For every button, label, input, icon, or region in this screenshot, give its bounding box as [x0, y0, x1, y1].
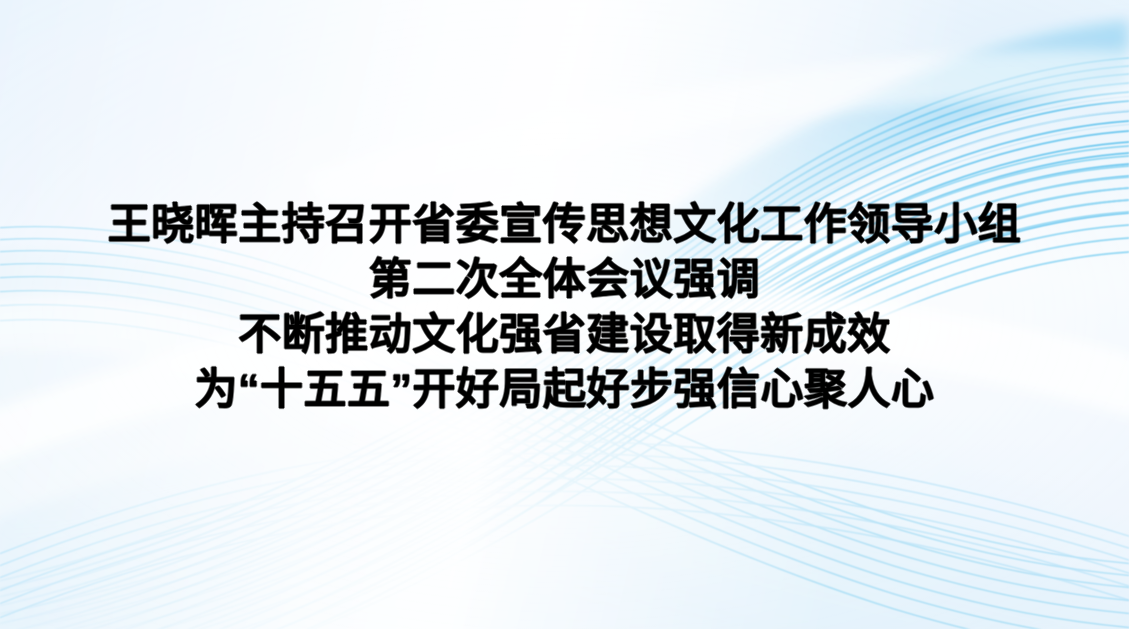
background-wave-graphic [0, 0, 1129, 629]
headline-banner: 王晓晖主持召开省委宣传思想文化工作领导小组 第二次全体会议强调 不断推动文化强省… [0, 0, 1129, 629]
